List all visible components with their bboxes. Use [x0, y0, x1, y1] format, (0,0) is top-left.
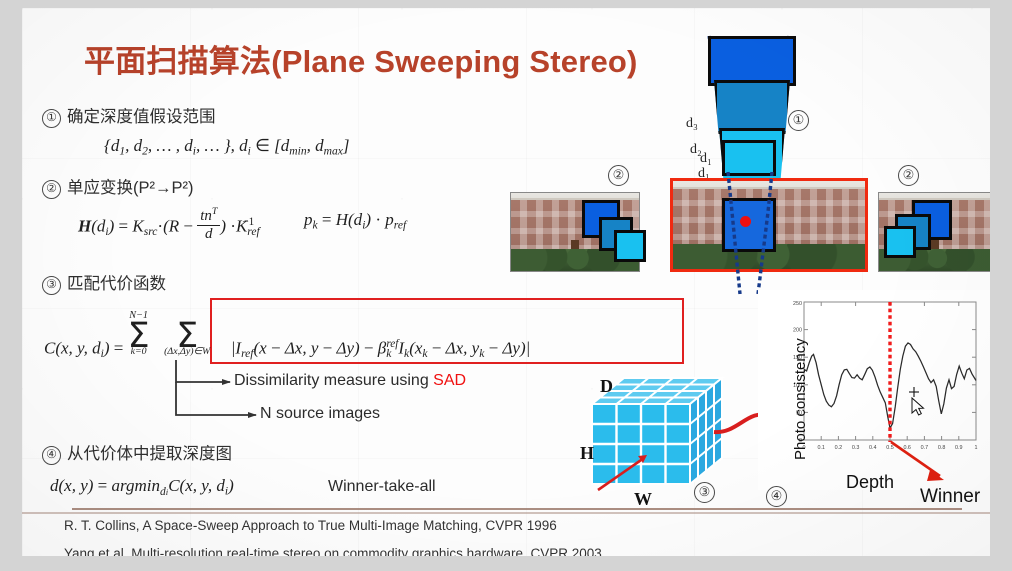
step-1: ①确定深度值假设范围 [42, 103, 216, 128]
left-image-marker-circle: ② [608, 165, 629, 186]
svg-text:250: 250 [793, 301, 802, 307]
step-1-marker: ① [42, 109, 61, 128]
equation-projection: pk = H(di) · pref [304, 210, 406, 232]
step-2-label: 单应变换(P²→P²) [67, 179, 194, 197]
step-3: ③匹配代价函数 [42, 270, 166, 295]
chart-marker-circle: ④ [766, 486, 787, 507]
dissimilarity-annotation: Dissimilarity measure using SAD [234, 372, 466, 390]
step-2: ②单应变换(P²→P²) [42, 174, 194, 199]
plane-d2 [714, 80, 790, 134]
page-title: 平面扫描算法(Plane Sweeping Stereo) [84, 36, 638, 81]
cube-label-depth: D [600, 376, 613, 397]
equation-cost: C(x, y, di) = N−1Σk=0 Σ(Δx,Δy)∈W |Iref(x… [44, 311, 530, 360]
svg-text:0.8: 0.8 [938, 445, 946, 451]
n-source-annotation: N source images [260, 405, 380, 423]
figure-marker-4: ④ [766, 486, 787, 507]
winner-label: Winner [920, 486, 980, 508]
equation-argmin: d(x, y) = argmindiC(x, y, di) [50, 476, 234, 498]
step-2-marker: ② [42, 180, 61, 199]
depth-label-d3: d₃ [686, 116, 698, 132]
figure-marker-2-left: ② [608, 165, 629, 186]
chart-y-axis-label: Photo consistency [792, 338, 809, 460]
step-3-marker: ③ [42, 276, 61, 295]
center-rays [670, 168, 870, 298]
step-4: ④从代价体中提取深度图 [42, 440, 232, 465]
svg-text:0.4: 0.4 [869, 445, 877, 451]
winner-arrow [891, 442, 940, 476]
svg-text:1: 1 [975, 445, 978, 451]
svg-text:0.9: 0.9 [955, 445, 963, 451]
citation-1: R. T. Collins, A Space-Sweep Approach to… [64, 518, 557, 533]
inner-sum: Σ(Δx,Δy)∈W [164, 311, 210, 357]
outer-sum: N−1Σk=0 [128, 311, 150, 357]
figure-marker-3: ③ [694, 482, 715, 503]
right-patch-near [884, 226, 916, 258]
cube-label-height: H [580, 443, 594, 464]
divider-bottom [22, 512, 990, 514]
screen: 平面扫描算法(Plane Sweeping Stereo) ①确定深度值假设范围… [0, 0, 1012, 571]
figure-marker-2-right: ② [898, 165, 919, 186]
svg-text:0.5: 0.5 [886, 445, 894, 451]
right-image-marker-circle: ② [898, 165, 919, 186]
slide-canvas: 平面扫描算法(Plane Sweeping Stereo) ①确定深度值假设范围… [22, 8, 990, 556]
divider-top [72, 508, 962, 510]
chart-x-axis-label: Depth [846, 472, 894, 493]
winner-take-all-label: Winner-take-all [328, 478, 436, 496]
depth-label-d1-center: d₁ [700, 151, 712, 167]
svg-text:0.3: 0.3 [852, 445, 860, 451]
svg-text:0.7: 0.7 [921, 445, 929, 451]
step-4-marker: ④ [42, 446, 61, 465]
equation-homography: H(di) = Ksrc·(R − tnTd) ·Kref−1 [78, 206, 254, 243]
cube-marker-circle: ③ [694, 482, 715, 503]
svg-text:0.1: 0.1 [817, 445, 825, 451]
cube-label-width: W [634, 489, 652, 510]
frustum-marker-circle: ① [788, 110, 809, 131]
step-4-label: 从代价体中提取深度图 [67, 445, 232, 463]
svg-text:0.2: 0.2 [835, 445, 843, 451]
sad-label: SAD [433, 372, 466, 389]
svg-text:200: 200 [793, 328, 802, 334]
citation-2: Yang et al. Multi-resolution real-time s… [64, 546, 602, 556]
dissimilarity-text: Dissimilarity measure using [234, 372, 433, 389]
equation-depth-set: {d1, d2, … , di, … }, di ∈ [dmin, dmax] [104, 136, 350, 158]
figure-marker-1: ① [788, 110, 809, 131]
step-3-label: 匹配代价函数 [67, 275, 166, 293]
step-1-label: 确定深度值假设范围 [67, 108, 216, 126]
plane-d3 [708, 36, 796, 86]
left-patch-near [614, 230, 646, 262]
